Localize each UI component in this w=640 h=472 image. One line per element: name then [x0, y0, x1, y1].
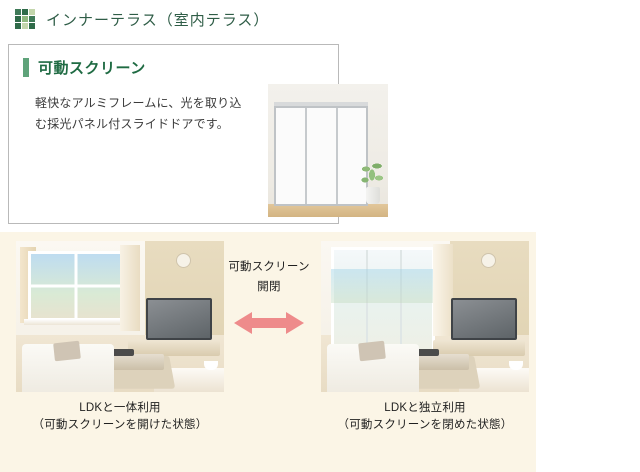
double-headed-horizontal-arrow-icon — [234, 310, 304, 336]
panel-description: 軽快なアルミフレームに、光を取り込む採光パネル付スライドドアです。 — [35, 93, 245, 135]
title-accent-bar — [23, 58, 29, 77]
center-callout: 可動スクリーン 開閉 — [224, 258, 314, 294]
room-photo-screen-open — [16, 241, 224, 392]
page-title: インナーテラス（室内テラス） — [46, 9, 269, 30]
photo-plant-leaves — [360, 159, 384, 189]
window-sill — [24, 319, 129, 325]
wall-clock-icon — [481, 253, 496, 268]
photo-sliding-door-frame — [274, 106, 368, 206]
cushion — [53, 341, 81, 362]
callout-line-2: 開閉 — [224, 278, 314, 294]
room-photo-screen-closed — [321, 241, 529, 392]
feature-panel: 可動スクリーン 軽快なアルミフレームに、光を取り込む採光パネル付スライドドアです… — [8, 44, 339, 224]
screen-translucent-band — [331, 269, 435, 303]
page-header: インナーテラス（室内テラス） — [0, 0, 640, 38]
panel-title-row: 可動スクリーン — [23, 57, 146, 78]
caption-screen-closed: LDKと独立利用 （可動スクリーンを閉めた状態） — [321, 400, 529, 435]
window-open-view — [28, 251, 124, 321]
photo-plant-pot — [366, 187, 380, 204]
caption-line-1: LDKと一体利用 — [16, 400, 224, 417]
curtain-right — [120, 245, 140, 331]
grid-squares-icon — [15, 9, 35, 29]
callout-line-1: 可動スクリーン — [224, 258, 314, 274]
wall-clock-icon — [176, 253, 191, 268]
panel-title: 可動スクリーン — [38, 57, 146, 78]
caption-line-1: LDKと独立利用 — [321, 400, 529, 417]
cushion — [358, 341, 386, 362]
curtain-right — [433, 244, 453, 336]
comparison-section: 可動スクリーン 開閉 LDKと一体利用 （可動スクリーンを開けた状態） LDKと… — [0, 232, 536, 472]
television — [146, 298, 212, 340]
caption-line-2: （可動スクリーンを閉めた状態） — [321, 417, 529, 434]
table-item — [417, 349, 439, 356]
movable-screen-photo — [268, 84, 388, 217]
television — [451, 298, 517, 340]
caption-line-2: （可動スクリーンを開けた状態） — [16, 417, 224, 434]
table-item — [112, 349, 134, 356]
caption-screen-open: LDKと一体利用 （可動スクリーンを開けた状態） — [16, 400, 224, 435]
